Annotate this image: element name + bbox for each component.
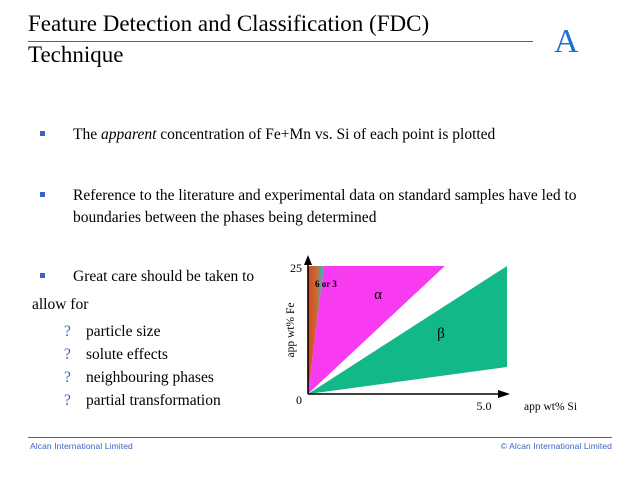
bullet-text: Reference to the literature and experime…: [73, 185, 610, 229]
region-label-beta: β: [437, 326, 445, 342]
bullet-text-after: concentration of Fe+Mn vs. Si of each po…: [156, 126, 495, 143]
footer-right-text: © Alcan International Limited: [501, 441, 612, 451]
square-bullet-icon: [40, 273, 45, 278]
phase-regions: [308, 266, 507, 394]
bullet-item: Reference to the literature and experime…: [40, 185, 610, 229]
sub-bullet-item: ? particle size: [64, 320, 221, 343]
title-underline: [28, 41, 533, 42]
page-title-line1: Feature Detection and Classification (FD…: [28, 8, 528, 39]
page-title: Feature Detection and Classification (FD…: [28, 8, 528, 70]
square-bullet-icon: [40, 192, 45, 197]
question-bullet-icon: ?: [64, 343, 71, 366]
question-bullet-icon: ?: [64, 320, 71, 343]
question-bullet-icon: ?: [64, 389, 71, 412]
sub-bullet-label: neighbouring phases: [86, 366, 221, 389]
bullet-text: The apparent concentration of Fe+Mn vs. …: [73, 124, 600, 146]
bullet-text-italic: apparent: [101, 126, 156, 143]
page-title-line2: Technique: [28, 39, 528, 70]
bullet-continuation-text: allow for: [32, 294, 88, 316]
bullet-text-before: The: [73, 126, 101, 143]
phase-diagram-svg: 25 0 5.0 app wt% Fe app wt% Si 6 or 3 α …: [284, 252, 634, 422]
alcan-logo-icon: A: [554, 25, 579, 59]
sub-bullet-label: solute effects: [86, 343, 221, 366]
x-axis-tick-max: 5.0: [477, 399, 492, 413]
y-axis-tick-origin: 0: [296, 393, 302, 407]
phase-diagram-chart: 25 0 5.0 app wt% Fe app wt% Si 6 or 3 α …: [284, 252, 634, 422]
sub-bullet-item: ? partial transformation: [64, 389, 221, 412]
region-label-6-or-3: 6 or 3: [315, 279, 337, 289]
slide: Feature Detection and Classification (FD…: [0, 0, 640, 480]
sub-bullet-label: particle size: [86, 320, 221, 343]
y-axis-tick-top: 25: [290, 261, 302, 275]
x-axis-label: app wt% Si: [524, 401, 577, 413]
sub-bullet-item: ? solute effects: [64, 343, 221, 366]
footer-left-text: Alcan International Limited: [30, 441, 133, 451]
square-bullet-icon: [40, 131, 45, 136]
sub-bullet-list: ? particle size ? solute effects ? neigh…: [64, 320, 221, 412]
bullet-text: Great care should be taken to: [73, 266, 290, 288]
region-label-alpha: α: [374, 287, 382, 303]
sub-bullet-item: ? neighbouring phases: [64, 366, 221, 389]
y-axis-label: app wt% Fe: [285, 303, 297, 358]
bullet-item: Great care should be taken to: [40, 266, 290, 288]
bullet-item: The apparent concentration of Fe+Mn vs. …: [40, 124, 600, 146]
sub-bullet-label: partial transformation: [86, 389, 221, 412]
question-bullet-icon: ?: [64, 366, 71, 389]
x-axis-arrow-icon: [498, 390, 510, 398]
y-axis-arrow-icon: [304, 255, 312, 265]
footer-divider: [28, 437, 612, 438]
